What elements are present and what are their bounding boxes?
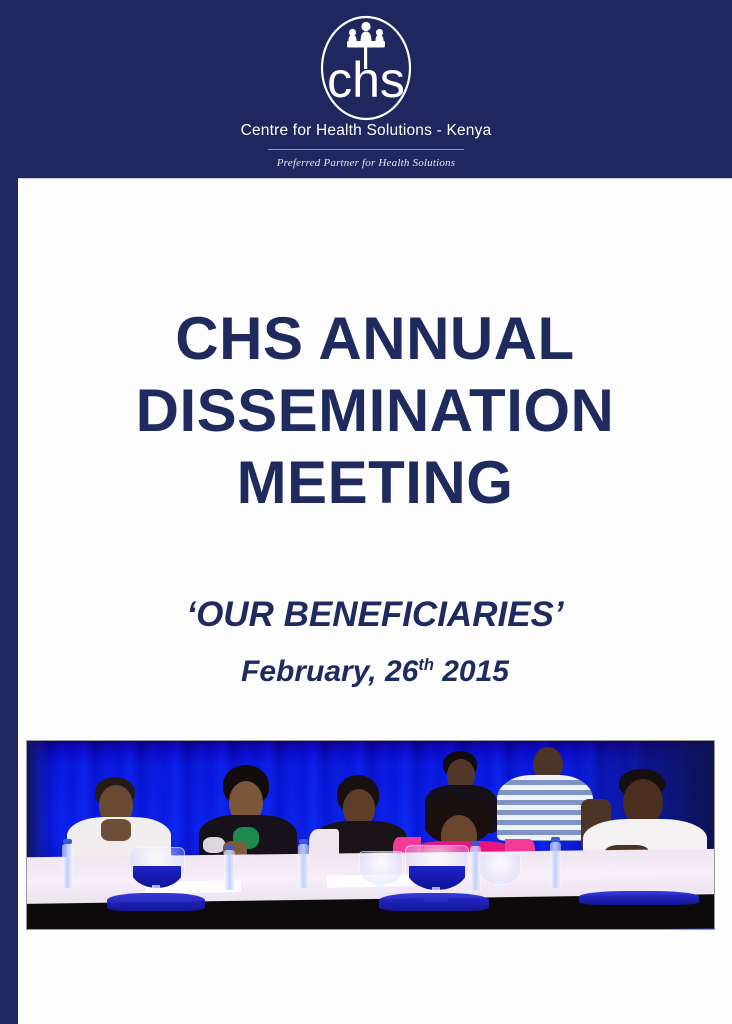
page-subtitle: ‘OUR BENEFICIARIES’	[18, 594, 732, 636]
event-date-ordinal: th	[418, 656, 434, 674]
event-date: February, 26th 2015	[18, 653, 732, 691]
water-bottle-3	[298, 844, 309, 888]
cover-page: chs Centre for Health Solutions - Kenya …	[0, 0, 732, 1024]
photo-scene	[27, 741, 714, 929]
subtitle-block: ‘OUR BENEFICIARIES’ February, 26th 2015	[18, 594, 732, 691]
event-date-month: February,	[241, 655, 377, 688]
left-navy-rail	[0, 170, 18, 1024]
curtain-shadow-left	[27, 741, 51, 869]
organisation-tagline: Preferred Partner for Health Solutions	[0, 157, 732, 169]
blue-vase-3	[359, 851, 403, 885]
blue-vase-4-stem	[495, 881, 503, 891]
title-block: CHS ANNUAL DISSEMINATION MEETING	[18, 303, 732, 519]
logo-divider	[268, 149, 464, 150]
event-date-day: 26	[385, 655, 418, 688]
brand-logo-block: chs Centre for Health Solutions - Kenya …	[0, 0, 732, 169]
chs-wordmark: chs	[327, 52, 405, 108]
cover-content: CHS ANNUAL DISSEMINATION MEETING ‘OUR BE…	[18, 179, 732, 1024]
event-date-year: 2015	[442, 655, 509, 688]
cover-photograph	[26, 740, 715, 930]
page-title: CHS ANNUAL DISSEMINATION MEETING	[18, 303, 732, 519]
blue-vase-2	[405, 845, 469, 891]
blue-ribbon-2	[379, 893, 489, 911]
water-bottle-1	[62, 844, 73, 888]
blue-vase-1	[129, 847, 185, 889]
organisation-name: Centre for Health Solutions - Kenya	[0, 122, 732, 140]
blue-ribbon-3	[579, 891, 699, 905]
blue-ribbon-1	[107, 893, 205, 911]
water-bottle-5	[550, 842, 561, 888]
water-bottle-2	[224, 850, 235, 890]
blue-vase-3-stem	[376, 881, 384, 891]
chs-oval-logo-icon: chs	[307, 10, 425, 122]
